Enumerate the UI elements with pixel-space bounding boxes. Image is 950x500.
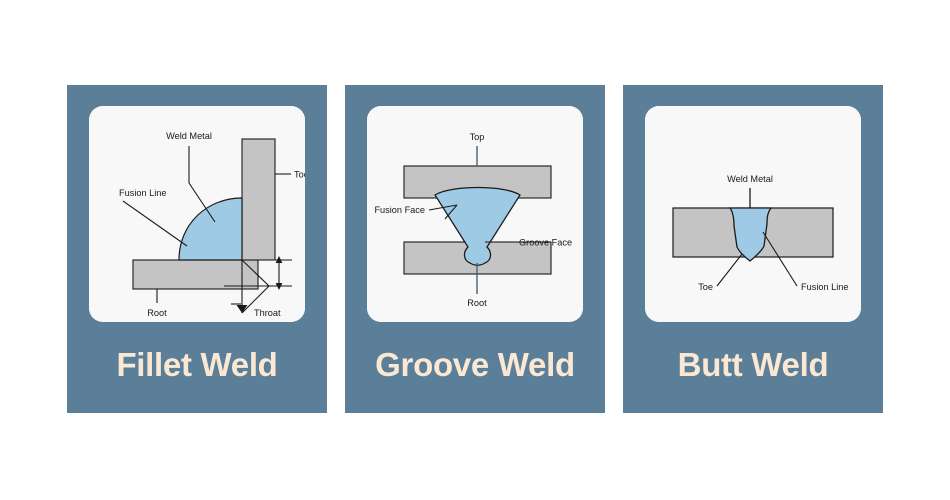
label-root: Root bbox=[147, 308, 167, 318]
panel-title-butt: Butt Weld bbox=[623, 330, 883, 400]
label-fusion-line: Fusion Line bbox=[801, 282, 849, 292]
panel-groove-weld: Top Fusion Face Groove Face Root Groove … bbox=[345, 85, 605, 413]
label-toe: Toe bbox=[698, 282, 713, 292]
label-fusion-line: Fusion Line bbox=[119, 188, 167, 198]
label-weld-metal: Weld Metal bbox=[727, 174, 773, 184]
label-throat: Throat bbox=[254, 308, 281, 318]
panel-title-fillet: Fillet Weld bbox=[67, 330, 327, 400]
label-top: Top bbox=[470, 132, 485, 142]
panel-butt-weld: Weld Metal Toe Fusion Line Butt Weld bbox=[623, 85, 883, 413]
panel-fillet-weld: Weld Metal Toe Fusion Line Root bbox=[67, 85, 327, 413]
weld-types-figure: Weld Metal Toe Fusion Line Root bbox=[0, 0, 950, 500]
vertical-plate bbox=[242, 139, 275, 260]
butt-weld-card: Weld Metal Toe Fusion Line bbox=[645, 106, 861, 322]
fillet-weld-diagram: Weld Metal Toe Fusion Line Root bbox=[89, 106, 305, 322]
label-toe: Toe bbox=[294, 170, 305, 180]
fillet-weld-card: Weld Metal Toe Fusion Line Root bbox=[89, 106, 305, 322]
label-fusion-face: Fusion Face bbox=[374, 205, 425, 215]
label-weld-metal: Weld Metal bbox=[166, 131, 212, 141]
butt-weld-diagram: Weld Metal Toe Fusion Line bbox=[645, 106, 861, 322]
label-root: Root bbox=[467, 298, 487, 308]
label-groove-face: Groove Face bbox=[519, 238, 572, 248]
horizontal-plate bbox=[133, 260, 258, 289]
groove-weld-card: Top Fusion Face Groove Face Root bbox=[367, 106, 583, 322]
panel-title-groove: Groove Weld bbox=[345, 330, 605, 400]
groove-weld-diagram: Top Fusion Face Groove Face Root bbox=[367, 106, 583, 322]
